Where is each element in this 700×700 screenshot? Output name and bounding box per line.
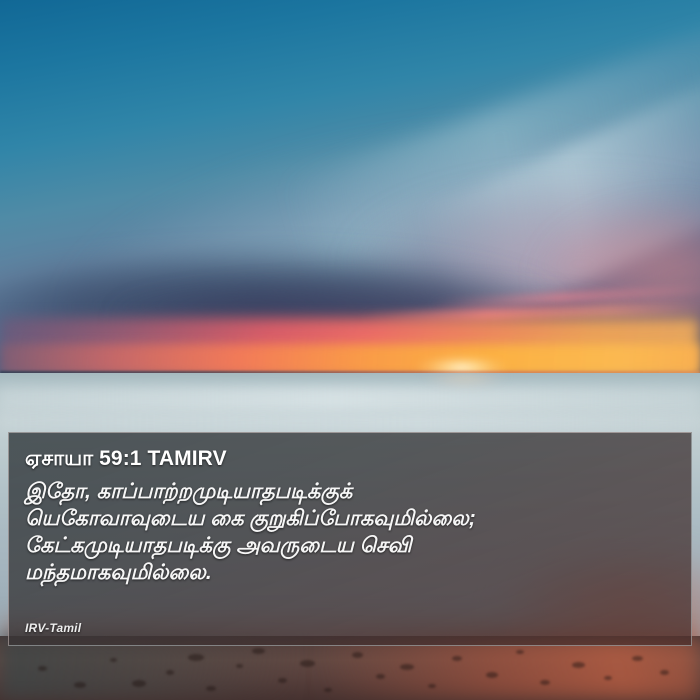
verse-text-line: மந்தமாகவுமில்லை. <box>25 559 675 586</box>
sea-sheen-upper <box>0 386 700 412</box>
verse-reference: ஏசாயா 59:1 TAMIRV <box>25 447 675 472</box>
verse-text-line: யெகோவாவுடைய கை குறுகிப்போகவுமில்லை; <box>25 505 675 532</box>
verse-text: இதோ, காப்பாற்றமுடியாதபடிக்குக் யெகோவாவுட… <box>25 478 675 586</box>
translation-credit: IRV-Tamil <box>25 621 675 635</box>
verse-image-canvas: ஏசாயா 59:1 TAMIRV இதோ, காப்பாற்றமுடியாதப… <box>0 0 700 700</box>
verse-text-line: கேட்கமுடியாதபடிக்கு அவருடைய செவி <box>25 532 675 559</box>
sun-reflection-on-water <box>380 374 550 414</box>
sea-sheen-lower <box>0 414 700 432</box>
verse-text-line: இதோ, காப்பாற்றமுடியாதபடிக்குக் <box>25 478 675 505</box>
verse-card: ஏசாயா 59:1 TAMIRV இதோ, காப்பாற்றமுடியாதப… <box>8 432 692 646</box>
